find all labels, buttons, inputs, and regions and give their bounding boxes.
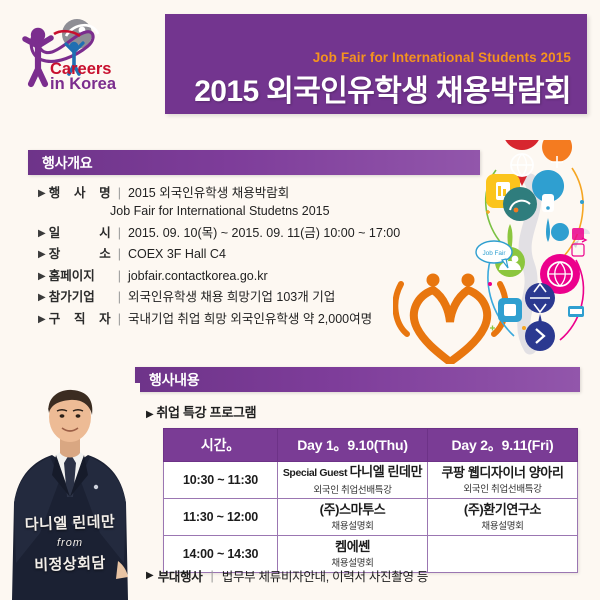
section-overview-label: 행사개요: [42, 153, 92, 173]
cell-main-name: 켐에쎈: [335, 539, 370, 554]
detail-row-datetime: ▶ 일 시 | 2015. 09. 10(목) ~ 2015. 09. 11(금…: [38, 225, 458, 242]
cell-day1: (주)스마투스 채용설명회: [278, 499, 428, 536]
detail-separator: |: [118, 268, 121, 285]
footer-side-events: ▶ 부대행사 | 법무부 체류비자안내, 이력서 사진촬영 등: [146, 566, 428, 585]
bullet-icon: ▶: [38, 246, 46, 263]
detail-row-event-name: ▶ 행 사 명 | 2015 외국인유학생 채용박람회 Job Fair for…: [38, 185, 458, 220]
portrait-image: [0, 383, 140, 600]
cell-main-name: 다니엘 린데만: [350, 464, 423, 479]
cell-day1: Special Guest 다니엘 린데만 외국인 취업선배특강: [278, 462, 428, 499]
cell-main-text: 쿠팡 웹디자이너 양아리: [429, 465, 576, 480]
detail-value: 외국인유학생 채용 희망기업 103개 기업: [128, 289, 335, 306]
program-schedule-table: 시간。 Day 1。9.10(Thu) Day 2。9.11(Fri) 10:3…: [163, 428, 578, 573]
cell-sub-text: 채용설명회: [279, 518, 426, 532]
cell-main-name: 쿠팡 웹디자이너 양아리: [441, 465, 563, 480]
logo-icon: Careers in Korea: [14, 12, 118, 94]
bullet-icon: ▶: [38, 268, 46, 285]
daniel-lindemann-photo: 다니엘 린데만 from 비정상회담: [0, 383, 140, 600]
detail-separator: |: [118, 311, 121, 328]
detail-label: 참가기업: [49, 289, 111, 306]
bullet-icon: ▶: [38, 185, 46, 202]
detail-label: 장 소: [49, 246, 111, 263]
table-col-day1: Day 1。9.10(Thu): [278, 429, 428, 462]
bullet-icon: ▶: [38, 225, 46, 242]
program-heading: ▶취업 특강 프로그램: [146, 402, 256, 421]
detail-label: 홈페이지: [49, 268, 111, 285]
cell-time: 11:30 ~ 12:00: [164, 499, 278, 536]
infographic-graphic: Job Fair: [472, 140, 600, 362]
section-content-label: 행사내용: [149, 370, 199, 390]
header-banner: Job Fair for International Students 2015…: [165, 14, 587, 114]
bullet-icon: ▶: [38, 311, 46, 328]
table-col-time: 시간。: [164, 429, 278, 462]
cell-day2-empty: [428, 536, 578, 573]
cell-main-text: (주)환기연구소: [429, 502, 576, 517]
detail-value: 국내기업 취업 희망 외국인유학생 약 2,000여명: [128, 311, 372, 328]
detail-row-venue: ▶ 장 소 | COEX 3F Hall C4: [38, 246, 458, 263]
special-guest-prefix: Special Guest: [283, 467, 350, 479]
cell-sub-text: 외국인 취업선배특강: [429, 481, 576, 495]
careers-in-korea-logo[interactable]: Careers in Korea: [14, 12, 118, 94]
banner-title: 2015 외국인유학생 채용박람회: [194, 66, 571, 110]
poster-root: Careers in Korea Job Fair for Internatio…: [0, 0, 600, 600]
table-row: 10:30 ~ 11:30 Special Guest 다니엘 린데만 외국인 …: [164, 462, 578, 499]
program-heading-label: 취업 특강 프로그램: [156, 405, 256, 420]
footer-label: 부대행사: [158, 566, 203, 585]
table-col-day2: Day 2。9.11(Fri): [428, 429, 578, 462]
cell-main-text: Special Guest 다니엘 린데만: [279, 464, 426, 481]
cell-main-name: (주)환기연구소: [464, 502, 541, 517]
detail-separator: |: [118, 225, 121, 242]
cell-main-name: (주)스마투스: [320, 502, 386, 517]
detail-value: 2015. 09. 10(목) ~ 2015. 09. 11(금) 10:00 …: [128, 225, 400, 242]
section-header-overview: 행사개요: [28, 150, 480, 175]
cell-main-text: 켐에쎈: [279, 539, 426, 554]
footer-value: 법무부 체류비자안내, 이력서 사진촬영 등: [222, 566, 428, 585]
detail-label: 행 사 명: [49, 185, 111, 202]
cell-day2: 쿠팡 웹디자이너 양아리 외국인 취업선배특강: [428, 462, 578, 499]
table-row: 11:30 ~ 12:00 (주)스마투스 채용설명회 (주)환기연구소 채용설…: [164, 499, 578, 536]
bullet-icon: ▶: [146, 409, 153, 420]
detail-separator: |: [118, 185, 121, 202]
cell-sub-text: 외국인 취업선배특강: [279, 482, 426, 496]
detail-value: COEX 3F Hall C4: [128, 246, 226, 263]
logo-line2: in Korea: [50, 75, 117, 93]
detail-separator: |: [118, 246, 121, 263]
detail-value-homepage-url[interactable]: jobfair.contactkorea.go.kr: [128, 268, 268, 285]
detail-value: 2015 외국인유학생 채용박람회: [128, 185, 289, 202]
footer-separator: |: [211, 569, 214, 583]
table-header-row: 시간。 Day 1。9.10(Thu) Day 2。9.11(Fri): [164, 429, 578, 462]
cell-main-text: (주)스마투스: [279, 502, 426, 517]
banner-subtitle: Job Fair for International Students 2015: [313, 50, 571, 65]
bullet-icon: ▶: [38, 289, 46, 306]
bullet-icon: ▶: [146, 570, 154, 581]
cell-sub-text: 채용설명회: [429, 518, 576, 532]
detail-separator: |: [118, 289, 121, 306]
cell-day2: (주)환기연구소 채용설명회: [428, 499, 578, 536]
detail-label: 구 직 자: [49, 311, 111, 328]
detail-subvalue: Job Fair for International Studetns 2015: [110, 203, 330, 220]
section-header-content: 행사내용: [135, 367, 580, 392]
detail-label: 일 시: [49, 225, 111, 242]
job-fair-bubble-label: Job Fair: [482, 250, 506, 257]
cell-time: 10:30 ~ 11:30: [164, 462, 278, 499]
